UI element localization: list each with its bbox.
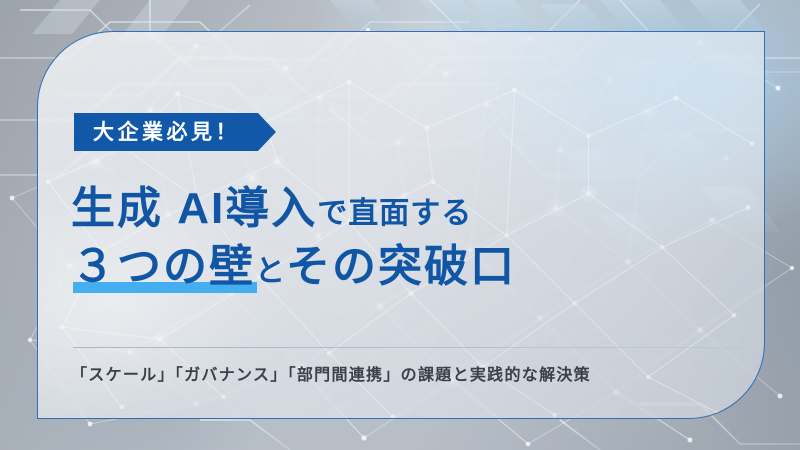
headline-block: 生成 AI導入で直面する ３つの壁とその突破口 bbox=[71, 187, 731, 289]
headline-line-1: 生成 AI導入で直面する bbox=[71, 187, 731, 231]
eyecatch-badge: 大企業必見！ bbox=[74, 113, 276, 151]
banner-canvas: 大企業必見！ 生成 AI導入で直面する ３つの壁とその突破口 「スケール」「ガバ… bbox=[0, 0, 800, 450]
headline-line-2-connector: と bbox=[255, 255, 286, 288]
banner-card: 大企業必見！ 生成 AI導入で直面する ３つの壁とその突破口 「スケール」「ガバ… bbox=[37, 31, 765, 419]
section-divider bbox=[73, 347, 745, 348]
eyecatch-badge-label: 大企業必見！ bbox=[93, 122, 240, 143]
banner-content: 大企業必見！ 生成 AI導入で直面する ３つの壁とその突破口 「スケール」「ガバ… bbox=[38, 32, 764, 418]
subtitle-text: 「スケール」「ガバナンス」「部門間連携」の課題と実践的な解決策 bbox=[71, 368, 591, 384]
headline-line-1-rest: で直面する bbox=[317, 197, 472, 230]
headline-highlighted-phrase: ３つの壁 bbox=[71, 245, 255, 289]
headline-highlighted-phrase-text: ３つの壁 bbox=[71, 242, 255, 291]
headline-line-1-emphasis: 生成 AI導入 bbox=[71, 184, 317, 233]
headline-line-2: ３つの壁とその突破口 bbox=[71, 245, 516, 289]
headline-line-2-rest: その突破口 bbox=[286, 242, 516, 291]
